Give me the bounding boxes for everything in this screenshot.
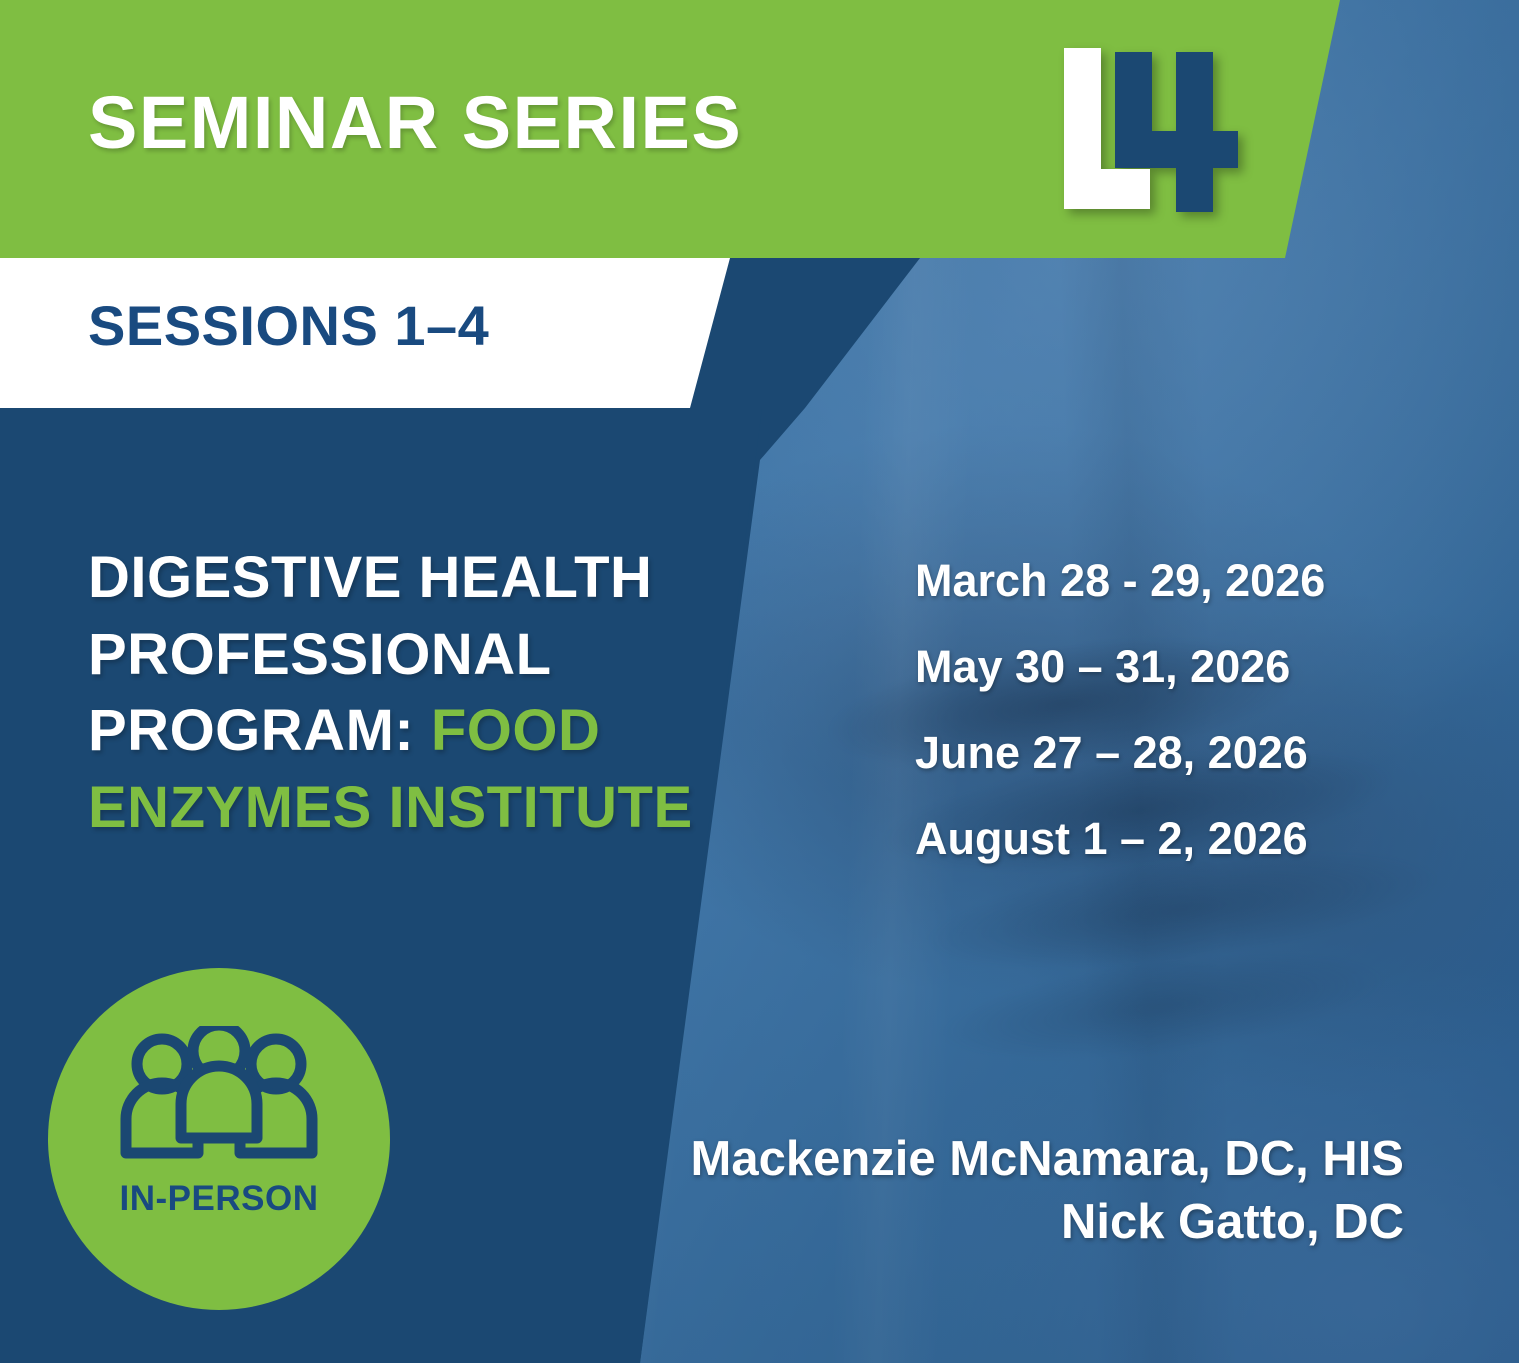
- seminar-poster: SEMINAR SERIES SESSIONS 1–4 DIGESTIVE HE…: [0, 0, 1519, 1363]
- in-person-badge: IN-PERSON: [48, 968, 390, 1310]
- headline-line-3-accent: FOOD: [431, 698, 601, 763]
- program-headline: DIGESTIVE HEALTH PROFESSIONAL PROGRAM: F…: [88, 540, 788, 846]
- presenter-name: Nick Gatto, DC: [691, 1191, 1405, 1254]
- headline-line-4-accent: ENZYMES INSTITUTE: [88, 775, 693, 840]
- group-of-people-icon-svg: [119, 1026, 319, 1160]
- l4-logo-svg: [1052, 40, 1262, 225]
- session-date: March 28 - 29, 2026: [915, 558, 1325, 603]
- session-dates-list: March 28 - 29, 2026 May 30 – 31, 2026 Ju…: [915, 558, 1325, 902]
- session-date: May 30 – 31, 2026: [915, 644, 1325, 689]
- sessions-label: SESSIONS 1–4: [88, 298, 489, 354]
- headline-line-1: DIGESTIVE HEALTH: [88, 545, 652, 610]
- person-center-body: [181, 1066, 257, 1138]
- l4-logo: [1052, 40, 1262, 225]
- group-of-people-icon: [119, 1026, 319, 1165]
- presenters-list: Mackenzie McNamara, DC, HIS Nick Gatto, …: [691, 1128, 1405, 1253]
- presenter-name: Mackenzie McNamara, DC, HIS: [691, 1128, 1405, 1191]
- headline-line-2: PROFESSIONAL: [88, 622, 552, 687]
- session-date: August 1 – 2, 2026: [915, 816, 1325, 861]
- session-date: June 27 – 28, 2026: [915, 730, 1325, 775]
- seminar-series-title: SEMINAR SERIES: [88, 86, 742, 160]
- in-person-label: IN-PERSON: [120, 1181, 319, 1216]
- headline-line-3-prefix: PROGRAM:: [88, 698, 431, 763]
